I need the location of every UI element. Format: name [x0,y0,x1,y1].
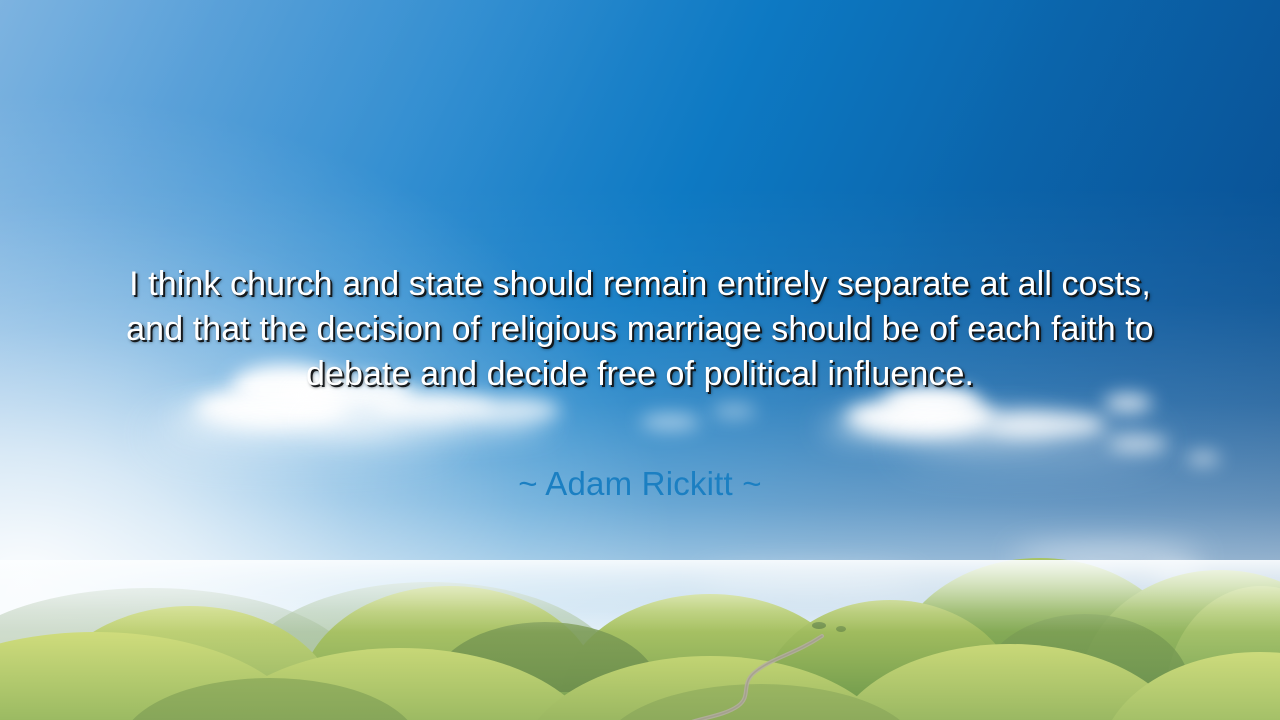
cloud-icon [900,430,1160,456]
hills-landscape [0,560,1280,720]
cloud-icon [640,414,700,430]
quote-block: I think church and state should remain e… [0,262,1280,397]
shrub-icon [836,626,846,632]
cloud-icon [712,404,756,418]
quote-image: I think church and state should remain e… [0,0,1280,720]
winding-path-icon [590,634,890,720]
cloud-icon [150,420,450,450]
cloud-icon [470,398,560,422]
shrub-icon [812,622,826,629]
author-attribution: ~ Adam Rickitt ~ [0,462,1280,506]
quote-text: I think church and state should remain e… [96,262,1184,397]
